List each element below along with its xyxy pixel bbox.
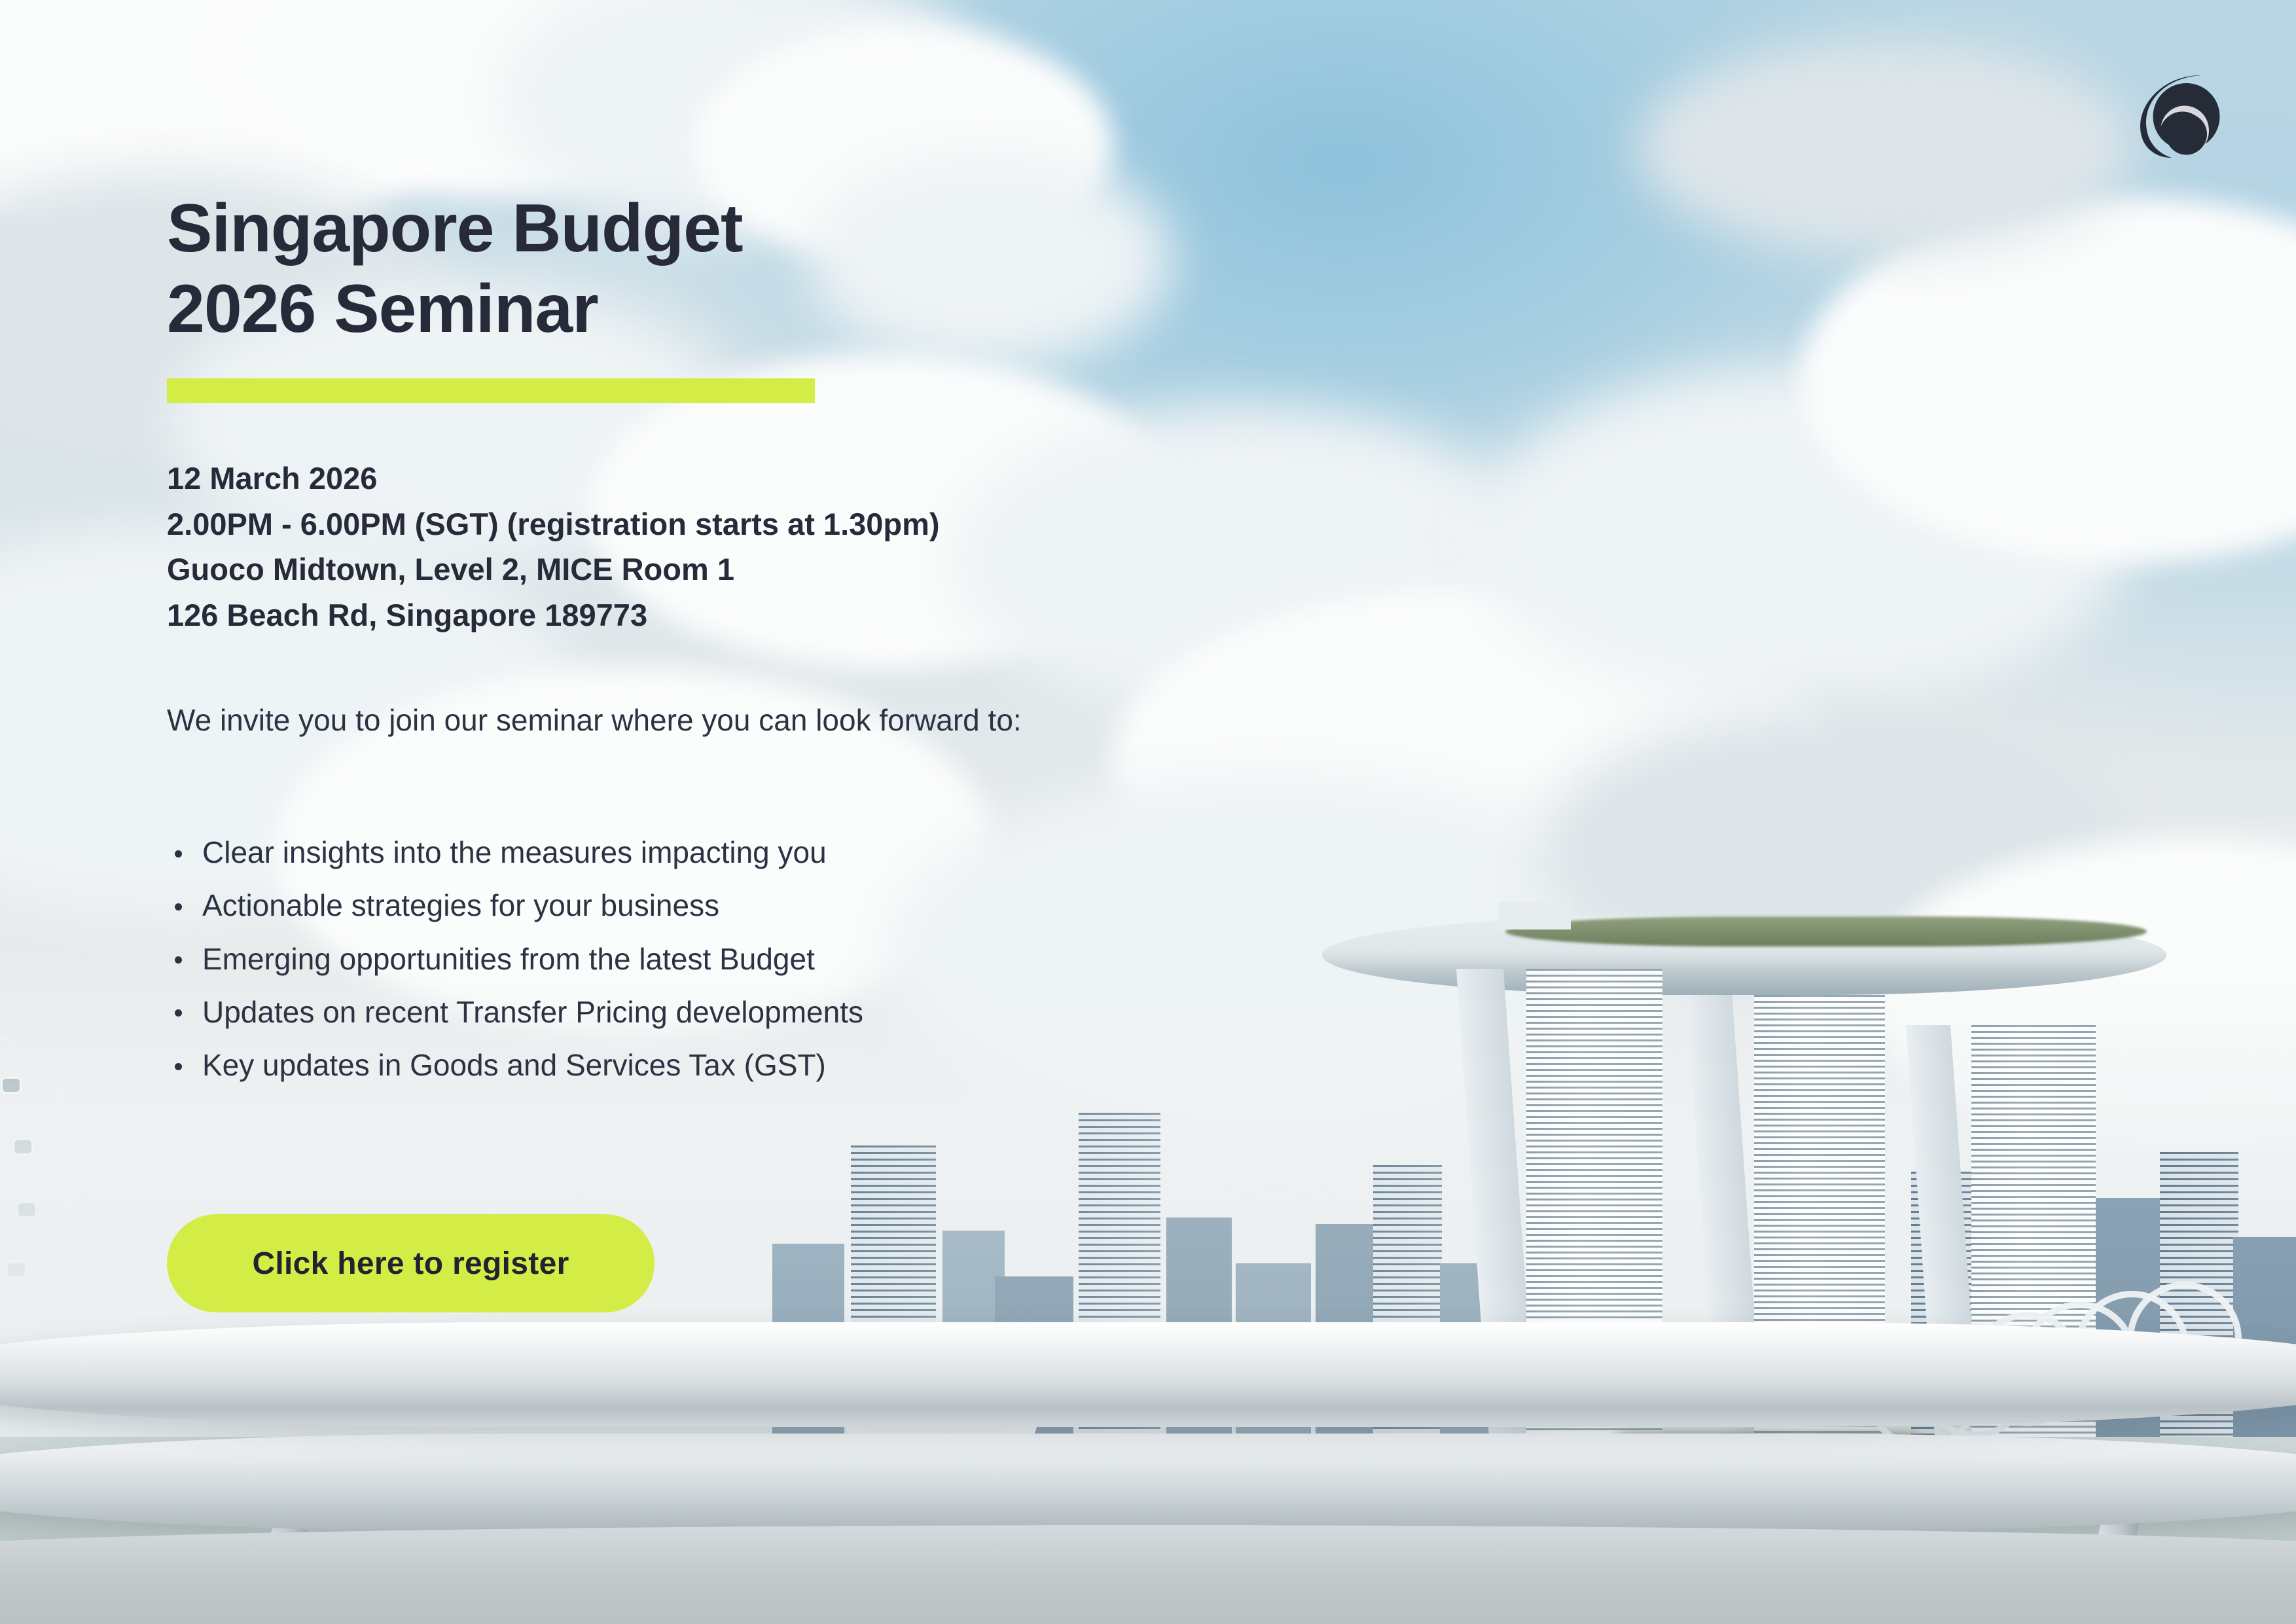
list-item: Key updates in Goods and Services Tax (G… [167, 1044, 863, 1087]
page-title: Singapore Budget 2026 Seminar [167, 189, 743, 349]
list-item-label: Actionable strategies for your business [202, 888, 719, 922]
list-item-label: Emerging opportunities from the latest B… [202, 942, 815, 976]
bullet-dot [175, 1063, 182, 1070]
register-button[interactable]: Click here to register [167, 1214, 655, 1312]
list-item: Actionable strategies for your business [167, 884, 863, 927]
list-item: Clear insights into the measures impacti… [167, 831, 863, 874]
benefits-list: Clear insights into the measures impacti… [167, 831, 863, 1098]
bullet-dot [175, 903, 182, 911]
list-item-label: Key updates in Goods and Services Tax (G… [202, 1048, 826, 1082]
bullet-dot [175, 850, 182, 857]
list-item: Emerging opportunities from the latest B… [167, 938, 863, 981]
list-item-label: Updates on recent Transfer Pricing devel… [202, 995, 863, 1029]
list-item-label: Clear insights into the measures impacti… [202, 835, 827, 869]
list-item: Updates on recent Transfer Pricing devel… [167, 991, 863, 1034]
event-details: 12 March 2026 2.00PM - 6.00PM (SGT) (reg… [167, 456, 940, 638]
bullet-dot [175, 1009, 182, 1017]
crescent-logo-icon [2132, 65, 2231, 164]
intro-paragraph: We invite you to join our seminar where … [167, 699, 1136, 742]
bullet-dot [175, 956, 182, 964]
accent-bar [167, 378, 815, 403]
